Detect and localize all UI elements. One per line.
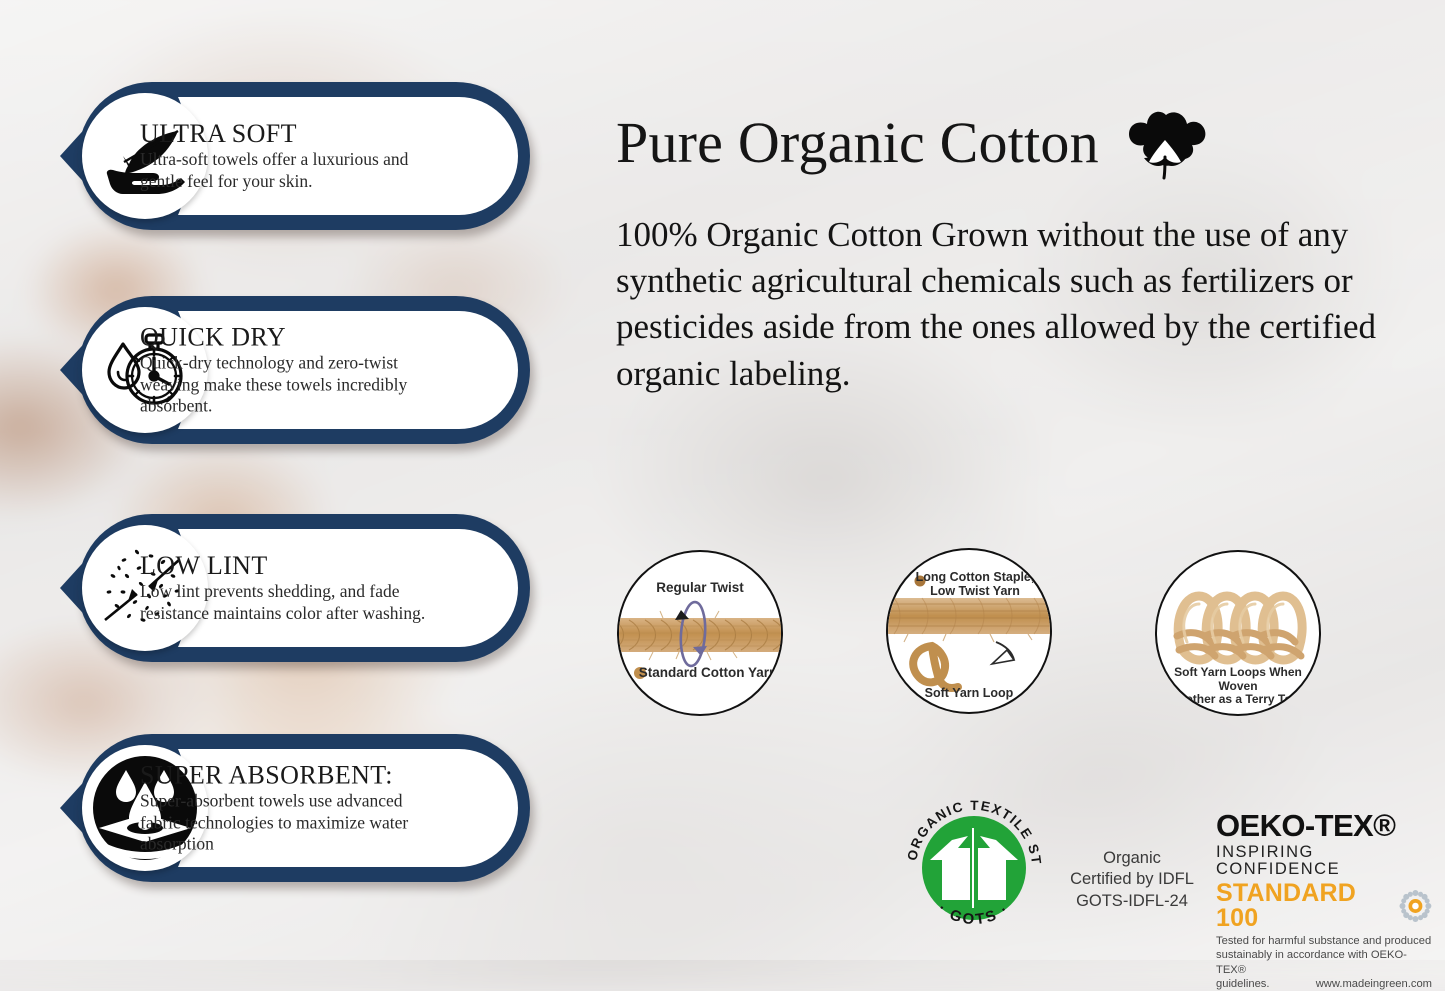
oeko-fine-line-2: sustainably in accordance with OEKO-TEX® bbox=[1216, 948, 1432, 977]
page-title: Pure Organic Cotton bbox=[616, 109, 1099, 176]
oeko-tex-block: OEKO-TEX® INSPIRING CONFIDENCE STANDARD … bbox=[1216, 810, 1432, 991]
feature-title: LOW LINT bbox=[140, 552, 440, 579]
oeko-tex-url: www.madeingreen.com bbox=[1316, 977, 1432, 991]
feature-description: Low lint prevents shedding, and fade res… bbox=[140, 581, 440, 624]
yarn-bottom-label: Standard Cotton Yarn bbox=[619, 665, 781, 680]
card-text: SUPER ABSORBENT: Super-absorbent towels … bbox=[140, 761, 440, 854]
gots-logo: GLOBAL ORGANIC TEXTILE STANDARD · GOTS · bbox=[898, 792, 1050, 944]
yarn-top-label: Regular Twist bbox=[619, 580, 781, 595]
feature-description: Quick-dry technology and zero-twist weav… bbox=[140, 353, 440, 417]
oeko-tex-fine-print: Tested for harmful substance and produce… bbox=[1216, 934, 1432, 991]
oeko-fine-line-3: guidelines. bbox=[1216, 977, 1270, 991]
oeko-tex-standard: STANDARD 100 bbox=[1216, 881, 1399, 931]
yarn-diagram-low-twist: Long Cotton Staple, Low Twist Yarn Soft … bbox=[886, 548, 1052, 714]
feature-description: Super-absorbent towels use advanced fabr… bbox=[140, 791, 440, 855]
made-in-green-flower-icon bbox=[1399, 889, 1432, 923]
feature-title: SUPER ABSORBENT: bbox=[140, 761, 440, 788]
feature-title: QUICK DRY bbox=[140, 323, 440, 350]
oeko-tex-subtitle: INSPIRING CONFIDENCE bbox=[1216, 844, 1432, 877]
yarn-diagram-terry-loops: Soft Yarn Loops When Woven Together as a… bbox=[1155, 550, 1321, 716]
feature-card-quick-dry: QUICK DRY Quick-dry technology and zero-… bbox=[60, 296, 530, 444]
yarn-bottom-label: Soft Yarn Loop bbox=[888, 686, 1050, 700]
oeko-tex-title: OEKO-TEX® bbox=[1216, 810, 1432, 841]
feature-card-super-absorbent: SUPER ABSORBENT: Super-absorbent towels … bbox=[60, 734, 530, 882]
headline-row: Pure Organic Cotton bbox=[616, 104, 1213, 180]
yarn-bottom-label: Soft Yarn Loops When Woven Together as a… bbox=[1157, 666, 1319, 707]
idfl-certification-text: Organic Certified by IDFL GOTS-IDFL-24 bbox=[1056, 848, 1208, 912]
cotton-boll-icon bbox=[1117, 104, 1213, 180]
yarn-top-label: Long Cotton Staple, Low Twist Yarn bbox=[888, 570, 1050, 599]
card-text: QUICK DRY Quick-dry technology and zero-… bbox=[140, 323, 440, 416]
body-copy: 100% Organic Cotton Grown without the us… bbox=[616, 212, 1406, 397]
feature-title: ULTRA SOFT bbox=[140, 120, 440, 147]
card-text: ULTRA SOFT Ultra-soft towels offer a lux… bbox=[140, 120, 440, 192]
idfl-line-2: Certified by IDFL bbox=[1056, 869, 1208, 890]
oeko-fine-line-1: Tested for harmful substance and produce… bbox=[1216, 934, 1432, 948]
feature-card-low-lint: LOW LINT Low lint prevents shedding, and… bbox=[60, 514, 530, 662]
feature-description: Ultra-soft towels offer a luxurious and … bbox=[140, 149, 440, 192]
idfl-line-3: GOTS-IDFL-24 bbox=[1056, 891, 1208, 912]
idfl-line-1: Organic bbox=[1056, 848, 1208, 869]
card-text: LOW LINT Low lint prevents shedding, and… bbox=[140, 552, 440, 624]
feature-card-ultra-soft: ULTRA SOFT Ultra-soft towels offer a lux… bbox=[60, 82, 530, 230]
yarn-diagram-regular-twist: Regular Twist Standard Cotton Yarn bbox=[617, 550, 783, 716]
